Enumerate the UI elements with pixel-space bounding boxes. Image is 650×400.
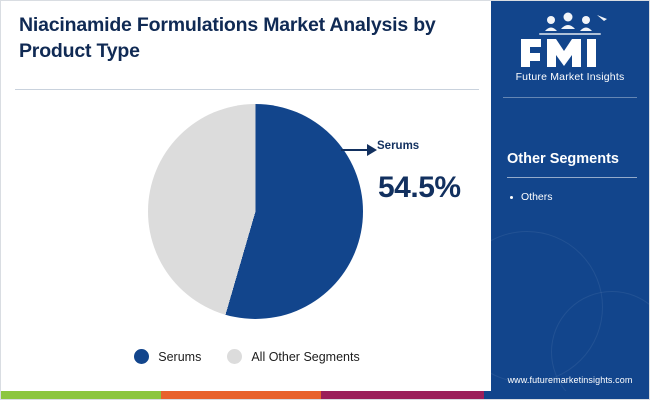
side-panel-heading: Other Segments [507,151,619,167]
callout-serums: Serums [341,138,471,158]
pie-graphic [148,104,363,319]
chart-panel: Niacinamide Formulations Market Analysis… [1,1,493,393]
page-title: Niacinamide Formulations Market Analysis… [19,13,449,64]
color-bar-segment [161,391,321,399]
other-segments-list: Others [509,189,641,206]
side-panel: Future Market Insights Other Segments Ot… [491,1,649,393]
list-item: Others [509,189,641,206]
legend-swatch-all-other-segments [227,349,242,364]
color-bar-segment [484,391,650,399]
logo-tagline: Future Market Insights [491,71,649,83]
legend-label-all-other-segments: All Other Segments [251,350,359,364]
legend-label-serums: Serums [158,350,201,364]
side-panel-divider-mid [507,177,637,178]
chart-legend: Serums All Other Segments [1,349,493,364]
footer-color-bar [1,391,650,399]
website-url: www.futuremarketinsights.com [491,375,649,385]
title-divider [15,89,479,90]
infographic-page: Niacinamide Formulations Market Analysis… [0,0,650,400]
pie-chart [148,104,363,319]
color-bar-segment [321,391,484,399]
legend-item-all-other-segments: All Other Segments [227,349,359,364]
color-bar-segment [1,391,161,399]
callout-percentage: 54.5% [378,171,461,205]
fmi-logo-icon [505,11,635,67]
side-panel-divider-top [503,97,637,98]
legend-swatch-serums [134,349,149,364]
legend-item-serums: Serums [134,349,201,364]
logo: Future Market Insights [491,11,649,83]
callout-label: Serums [377,140,419,152]
